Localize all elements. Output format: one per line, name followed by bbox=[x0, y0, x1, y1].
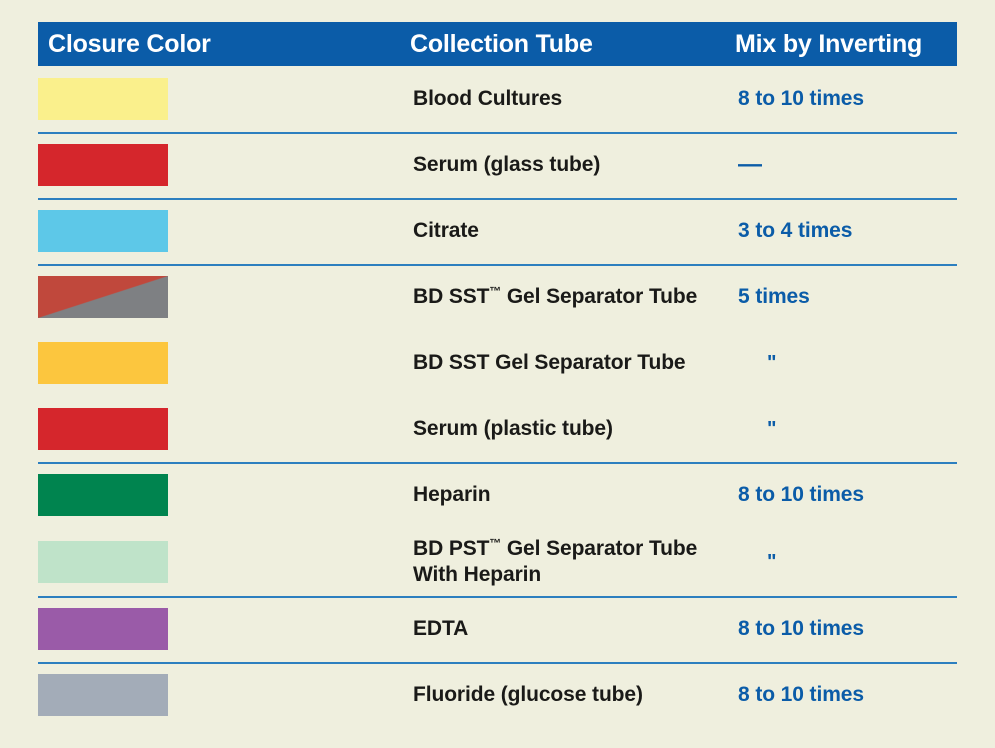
closure-color-swatch-light-green bbox=[38, 541, 168, 583]
cell-collection-tube: Fluoride (glucose tube) bbox=[413, 682, 738, 708]
cell-collection-tube: Citrate bbox=[413, 218, 738, 244]
closure-color-swatch-light-blue bbox=[38, 210, 168, 252]
cell-closure-color bbox=[38, 144, 168, 186]
collection-tube-text: Fluoride (glucose tube) bbox=[413, 683, 643, 706]
trademark-symbol: ™ bbox=[489, 285, 501, 298]
row-divider bbox=[38, 462, 957, 464]
closure-color-swatch-gray bbox=[38, 674, 168, 716]
closure-color-swatch-red bbox=[38, 408, 168, 450]
cell-mix-by-inverting-ditto: " bbox=[738, 352, 995, 375]
table-row: Serum (plastic tube)" bbox=[0, 396, 995, 462]
cell-closure-color bbox=[38, 210, 168, 252]
collection-tube-text: BD PST bbox=[413, 537, 489, 560]
closure-color-swatch-red bbox=[38, 144, 168, 186]
cell-collection-tube: Serum (plastic tube) bbox=[413, 416, 738, 442]
table-row: Serum (glass tube)— bbox=[0, 132, 995, 198]
cell-mix-by-inverting: 3 to 4 times bbox=[738, 219, 995, 243]
table-row: BD PST™ Gel Separator TubeWith Heparin" bbox=[0, 528, 995, 596]
collection-tube-text: BD SST Gel Separator Tube bbox=[413, 351, 686, 374]
table-body: Blood Cultures8 to 10 timesSerum (glass … bbox=[0, 66, 995, 728]
cell-mix-by-inverting-ditto: " bbox=[738, 551, 995, 574]
collection-tube-text: Heparin bbox=[413, 483, 491, 506]
cell-mix-by-inverting: 8 to 10 times bbox=[738, 617, 995, 641]
cell-closure-color bbox=[38, 474, 168, 516]
closure-color-swatch-green bbox=[38, 474, 168, 516]
closure-color-swatch-light-yellow bbox=[38, 78, 168, 120]
column-header-mix-by-inverting: Mix by Inverting bbox=[735, 30, 922, 59]
cell-mix-by-inverting: 8 to 10 times bbox=[738, 87, 995, 111]
cell-collection-tube: BD PST™ Gel Separator TubeWith Heparin bbox=[413, 536, 738, 587]
table-row: Blood Cultures8 to 10 times bbox=[0, 66, 995, 132]
collection-tube-text: Serum (plastic tube) bbox=[413, 417, 613, 440]
cell-collection-tube: Heparin bbox=[413, 482, 738, 508]
collection-tube-text: Citrate bbox=[413, 219, 479, 242]
cell-collection-tube: BD SST Gel Separator Tube bbox=[413, 350, 738, 376]
row-divider bbox=[38, 662, 957, 664]
row-divider bbox=[38, 264, 957, 266]
collection-tube-text: EDTA bbox=[413, 617, 468, 640]
cell-mix-by-inverting: 8 to 10 times bbox=[738, 483, 995, 507]
cell-collection-tube: Blood Cultures bbox=[413, 86, 738, 112]
cell-collection-tube: Serum (glass tube) bbox=[413, 152, 738, 178]
cell-mix-by-inverting-ditto: " bbox=[738, 418, 995, 441]
cell-closure-color bbox=[38, 608, 168, 650]
cell-closure-color bbox=[38, 408, 168, 450]
cell-collection-tube: EDTA bbox=[413, 616, 738, 642]
cell-closure-color bbox=[38, 342, 168, 384]
table-row: Citrate3 to 4 times bbox=[0, 198, 995, 264]
table-row: BD SST™ Gel Separator Tube5 times bbox=[0, 264, 995, 330]
cell-mix-by-inverting: 8 to 10 times bbox=[738, 683, 995, 707]
collection-tube-suffix: Gel Separator Tube bbox=[501, 537, 697, 560]
cell-collection-tube: BD SST™ Gel Separator Tube bbox=[413, 284, 738, 310]
closure-color-swatch-purple bbox=[38, 608, 168, 650]
trademark-symbol: ™ bbox=[489, 537, 501, 550]
cell-mix-by-inverting: — bbox=[738, 151, 995, 179]
table-row: Heparin8 to 10 times bbox=[0, 462, 995, 528]
collection-tube-suffix: Gel Separator Tube bbox=[501, 285, 697, 308]
row-divider bbox=[38, 198, 957, 200]
table-header-bar: Closure Color Collection Tube Mix by Inv… bbox=[38, 22, 957, 66]
row-divider bbox=[38, 132, 957, 134]
cell-mix-by-inverting: 5 times bbox=[738, 285, 995, 309]
collection-tube-text: Blood Cultures bbox=[413, 87, 562, 110]
closure-color-chart: Closure Color Collection Tube Mix by Inv… bbox=[0, 0, 995, 748]
column-header-closure-color: Closure Color bbox=[48, 30, 211, 59]
cell-closure-color bbox=[38, 276, 168, 318]
column-header-collection-tube: Collection Tube bbox=[410, 30, 593, 59]
collection-tube-line2: With Heparin bbox=[413, 563, 541, 586]
closure-color-swatch-gold bbox=[38, 342, 168, 384]
cell-closure-color bbox=[38, 78, 168, 120]
table-row: Fluoride (glucose tube)8 to 10 times bbox=[0, 662, 995, 728]
table-row: BD SST Gel Separator Tube" bbox=[0, 330, 995, 396]
collection-tube-text: BD SST bbox=[413, 285, 489, 308]
closure-color-swatch-red-gray-split bbox=[38, 276, 168, 318]
row-divider bbox=[38, 596, 957, 598]
table-row: EDTA8 to 10 times bbox=[0, 596, 995, 662]
cell-closure-color bbox=[38, 541, 168, 583]
collection-tube-text: Serum (glass tube) bbox=[413, 153, 600, 176]
cell-closure-color bbox=[38, 674, 168, 716]
